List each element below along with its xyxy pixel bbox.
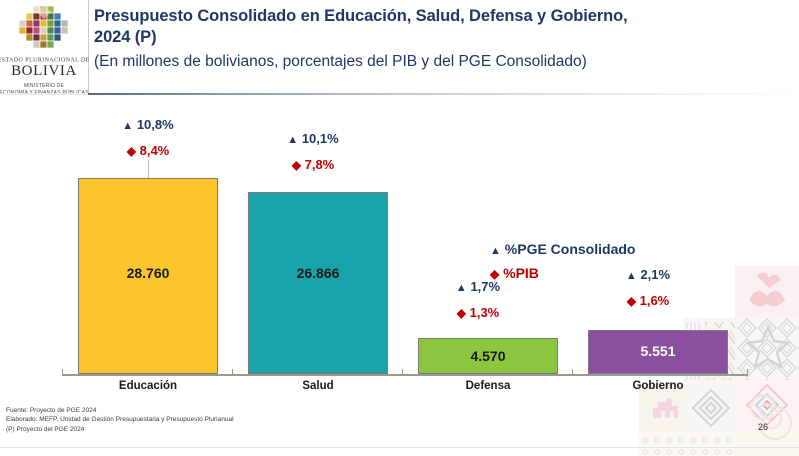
category-label-defensa: Defensa [418,380,558,392]
category-label-educacion: Educación [78,380,218,392]
pge-value-educacion: ▲ 10,8% [88,116,208,135]
pib-value-gobierno: ◆ 1,6% [588,292,708,310]
bar-value-salud: 26.866 [249,265,387,281]
diamond-marker-icon: ◆ [127,144,136,158]
page-number: 26 [758,422,768,432]
pib-value-defensa: ◆ 1,3% [418,304,538,322]
pge-label-gobierno: 2,1% [640,267,670,282]
title-block: Presupuesto Consolidado en Educación, Sa… [94,6,793,72]
x-axis-tick [402,369,403,374]
slide-root: ESTADO PLURINACIONAL DE BOLIVIA MINISTER… [0,0,799,456]
pge-label-salud: 10,1% [302,131,339,146]
page-title-line2: 2024 (P) [94,27,793,48]
page-subtitle: (En millones de bolivianos, porcentajes … [94,51,793,72]
source-footnote: Fuente: Proyecto de PGE 2024 Elaborado: … [6,406,436,435]
markers-gobierno: ▲ 2,1% ◆ 1,6% [588,266,708,310]
diamond-marker-icon: ◆ [292,158,301,172]
x-axis-tick [747,369,748,374]
x-axis-category-labels: Educación Salud Defensa Gobierno [0,376,799,396]
header-divider-left [0,93,88,95]
x-axis-tick [62,369,63,374]
footnote-p-note: (P) Proyecto del PGE 2024 [6,425,436,435]
pib-label-gobierno: 1,6% [640,293,670,308]
logo-estado-text: ESTADO PLURINACIONAL DE [0,57,90,63]
pge-value-gobierno: ▲ 2,1% [588,266,708,285]
diamond-marker-icon: ◆ [627,294,636,308]
triangle-marker-icon: ▲ [490,245,501,257]
markers-educacion: ▲ 10,8% ◆ 8,4% [88,116,208,160]
bar-educacion[interactable]: 28.760 [78,178,218,374]
bar-value-educacion: 28.760 [79,265,217,281]
triangle-marker-icon: ▲ [456,282,467,294]
chart-plot-area: ▲ %PGE Consolidado ◆ %PIB ▲ 10,8% ◆ 8,4% [0,98,799,380]
footnote-prepared: Elaborado: MEFP, Unidad de Gestión Presu… [6,415,436,425]
bottom-divider [0,447,799,448]
pib-label-defensa: 1,3% [470,305,500,320]
pib-label-salud: 7,8% [305,157,335,172]
logo-country-text: BOLIVIA [11,64,77,79]
x-axis-tick [232,369,233,374]
triangle-marker-icon: ▲ [626,270,637,282]
pib-label-educacion: 8,4% [140,143,170,158]
pge-value-defensa: ▲ 1,7% [418,278,538,297]
bar-salud[interactable]: 26.866 [248,192,388,374]
legend-label-pge: %PGE Consolidado [505,241,636,257]
logo-ministry-line1: MINISTERIO DE [24,83,64,90]
leader-line-educacion [148,160,149,178]
pge-value-salud: ▲ 10,1% [253,130,373,149]
bolivia-mosaic-icon [13,5,75,57]
category-label-gobierno: Gobierno [588,380,728,392]
slide-header: ESTADO PLURINACIONAL DE BOLIVIA MINISTER… [0,0,799,95]
triangle-marker-icon: ▲ [287,134,298,146]
legend-item-pge: ▲ %PGE Consolidado [490,238,635,262]
pge-label-defensa: 1,7% [470,279,500,294]
bar-defensa[interactable]: 4.570 [418,338,558,374]
bar-chart: ▲ %PGE Consolidado ◆ %PIB ▲ 10,8% ◆ 8,4% [0,98,799,398]
triangle-marker-icon: ▲ [122,120,133,132]
page-title-line1: Presupuesto Consolidado en Educación, Sa… [94,6,793,27]
footnote-source: Fuente: Proyecto de PGE 2024 [6,406,436,416]
header-divider [88,93,799,95]
ministry-logo: ESTADO PLURINACIONAL DE BOLIVIA MINISTER… [0,0,89,95]
pib-value-salud: ◆ 7,8% [253,156,373,174]
diamond-marker-icon: ◆ [457,306,466,320]
markers-salud: ▲ 10,1% ◆ 7,8% [253,130,373,174]
pib-value-educacion: ◆ 8,4% [88,142,208,160]
markers-defensa: ▲ 1,7% ◆ 1,3% [418,278,538,322]
bar-gobierno[interactable]: 5.551 [588,330,728,374]
category-label-salud: Salud [248,380,388,392]
bar-value-defensa: 4.570 [419,348,557,364]
x-axis-tick [572,369,573,374]
bar-value-gobierno: 5.551 [589,343,727,359]
pge-label-educacion: 10,8% [137,117,174,132]
